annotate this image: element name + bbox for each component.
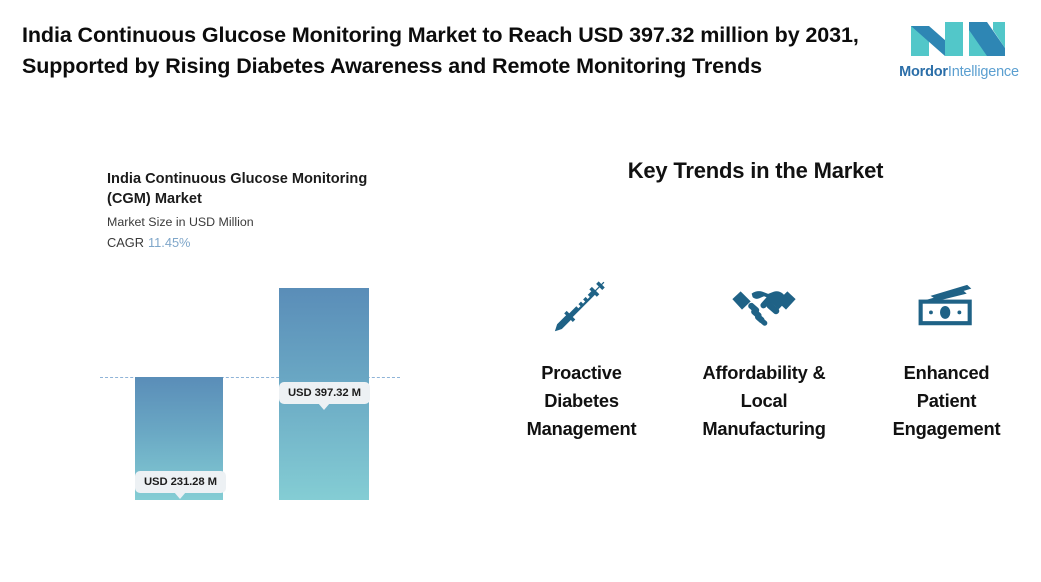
bar-value-label-2031: USD 397.32 M xyxy=(279,382,370,404)
key-trends-list: Proactive Diabetes Management xyxy=(504,275,1024,443)
trend-item-affordability-local-manufacturing: Affordability & Local Manufacturing xyxy=(687,275,842,443)
brand-word-light: Intelligence xyxy=(948,64,1019,80)
key-trends-heading: Key Trends in the Market xyxy=(470,158,1041,184)
bar-chart-plot: USD 231.28 M USD 397.32 M 2026 2031 xyxy=(0,120,470,582)
trend-label: Affordability & Local Manufacturing xyxy=(689,359,839,443)
handshake-icon xyxy=(731,275,797,337)
mordor-intelligence-logo: MordorIntelligence xyxy=(895,14,1023,90)
chart-panel: India Continuous Glucose Monitoring (CGM… xyxy=(0,120,470,582)
bar-value-label-2026: USD 231.28 M xyxy=(135,471,226,493)
key-trends-panel: Key Trends in the Market Proactive Diabe… xyxy=(470,120,1041,582)
trend-label: Proactive Diabetes Management xyxy=(507,359,657,443)
infographic-page: India Continuous Glucose Monitoring Mark… xyxy=(0,0,1041,582)
syringe-icon xyxy=(551,275,613,337)
trend-label: Enhanced Patient Engagement xyxy=(872,359,1022,443)
banknotes-icon xyxy=(914,275,980,337)
page-title: India Continuous Glucose Monitoring Mark… xyxy=(22,20,862,81)
brand-wordmark: MordorIntelligence xyxy=(899,64,1019,80)
trend-item-proactive-diabetes-management: Proactive Diabetes Management xyxy=(504,275,659,443)
trend-item-enhanced-patient-engagement: Enhanced Patient Engagement xyxy=(869,275,1024,443)
page-header: India Continuous Glucose Monitoring Mark… xyxy=(0,0,1041,120)
mi-logo-mark xyxy=(907,14,1011,60)
brand-word-bold: Mordor xyxy=(899,64,948,80)
